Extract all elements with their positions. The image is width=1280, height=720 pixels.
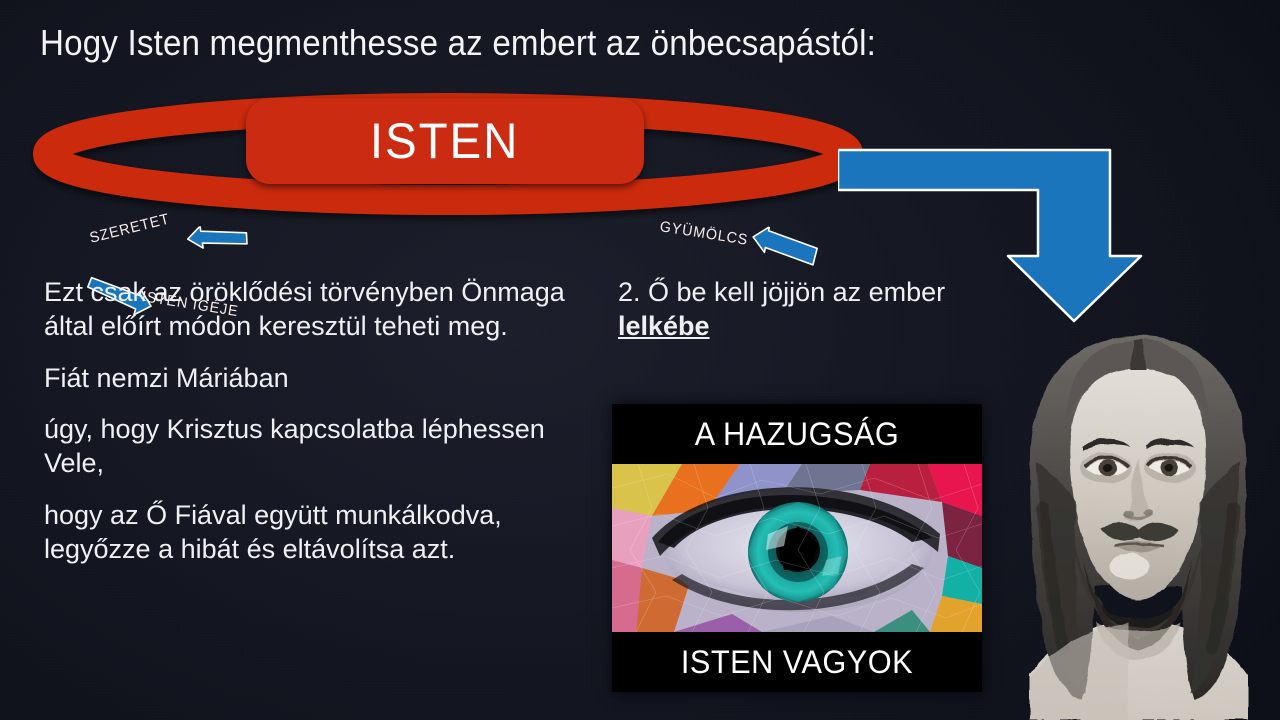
left-paragraph-2: Fiát nemzi Máriában xyxy=(44,362,594,396)
right-paragraph-prefix: 2. Ő be kell jöjjön az ember xyxy=(618,277,945,307)
eye-card: A HAZUGSÁG xyxy=(612,404,982,692)
eye-card-top-caption: A HAZUGSÁG xyxy=(619,404,974,464)
jesus-portrait xyxy=(996,322,1280,720)
left-paragraph-1: Ezt csak az öröklődési törvényben Önmaga… xyxy=(44,276,594,344)
eye-card-image xyxy=(612,464,982,632)
left-text-column: Ezt csak az öröklődési törvényben Önmaga… xyxy=(44,276,594,566)
left-paragraph-4: hogy az Ő Fiával együtt munkálkodva, leg… xyxy=(44,499,594,567)
left-paragraph-3: úgy, hogy Krisztus kapcsolatba léphessen… xyxy=(44,413,594,481)
page-title: Hogy Isten megmenthesse az embert az önb… xyxy=(40,22,960,63)
right-paragraph: 2. Ő be kell jöjjön az ember lelkébe xyxy=(618,276,948,344)
right-text-column: 2. Ő be kell jöjjön az ember lelkébe xyxy=(618,276,948,344)
eye-card-bottom-caption: ISTEN VAGYOK xyxy=(619,632,974,692)
cycle-diagram: ISTEN SZERETET ISTEN IGÉJE GYÜMÖLCS xyxy=(24,92,872,232)
jesus-watercolor-illustration xyxy=(996,322,1280,720)
slide-canvas: Hogy Isten megmenthesse az embert az önb… xyxy=(0,0,1280,720)
isten-label: ISTEN xyxy=(370,112,519,170)
low-poly-eye-illustration xyxy=(612,464,982,632)
right-paragraph-emphasis: lelkébe xyxy=(618,311,710,341)
isten-center-node: ISTEN xyxy=(246,98,644,184)
